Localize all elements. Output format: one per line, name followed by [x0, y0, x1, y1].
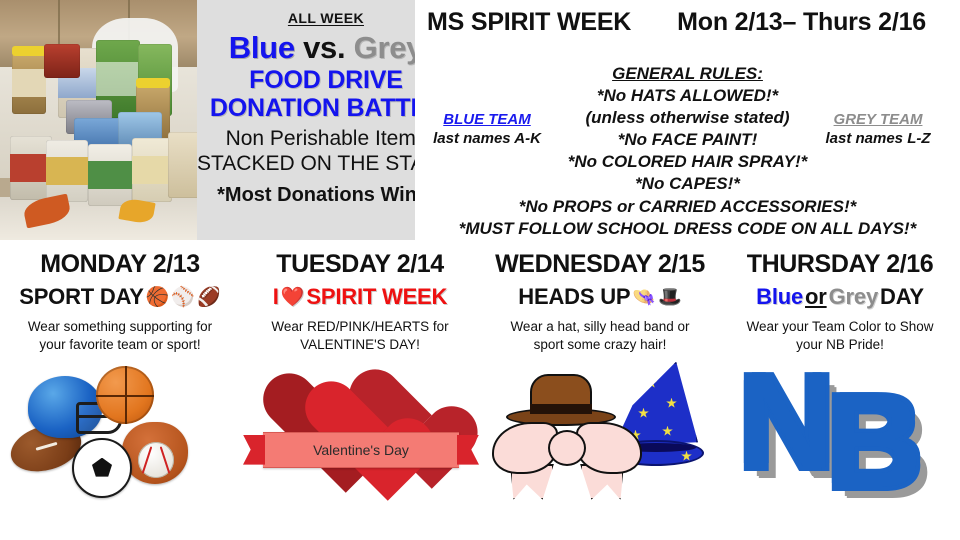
spirit-week-heading: MS SPIRIT WEEK — [427, 8, 631, 37]
rule-item: *No PROPS or CARRIED ACCESSORIES!* — [415, 196, 960, 218]
spirit-week-dates: Mon 2/13– Thurs 2/16 — [677, 8, 926, 37]
photo-can — [168, 132, 197, 198]
thursday-or-word: or — [805, 284, 827, 310]
baseball-glove-illustration — [122, 422, 188, 484]
food-drive-line-1: FOOD DRIVE — [249, 66, 403, 94]
blue-word: Blue — [229, 30, 295, 65]
monday-title: MONDAY 2/13 — [0, 250, 240, 279]
baseball-illustration — [138, 442, 174, 478]
photo-can — [44, 44, 80, 78]
spirit-week-poster: ALL WEEK Blue vs. Grey FOOD DRIVE DONATI… — [0, 0, 960, 540]
fedora-illustration — [506, 368, 616, 426]
tuesday-theme-post: SPIRIT WEEK — [306, 284, 447, 310]
star-icon — [662, 426, 673, 437]
day-columns: MONDAY 2/13 SPORT DAY 🏀 ⚾ 🏈 Wear somethi… — [0, 242, 960, 540]
rules-heading: MS SPIRIT WEEK Mon 2/13– Thurs 2/16 — [415, 0, 960, 37]
wednesday-description: Wear a hat, silly head band or sport som… — [498, 318, 703, 354]
monday-theme: SPORT DAY 🏀 ⚾ 🏈 — [0, 284, 240, 310]
star-icon — [666, 398, 677, 409]
photo-jar — [12, 52, 46, 114]
monday-theme-label: SPORT DAY — [19, 284, 144, 310]
day-column-tuesday: TUESDAY 2/14 I ❤️ SPIRIT WEEK Wear RED/P… — [240, 242, 480, 540]
top-hat-icon: 🎩 — [658, 285, 682, 309]
spirit-week-rules-panel: MS SPIRIT WEEK Mon 2/13– Thurs 2/16 BLUE… — [415, 0, 960, 242]
thursday-day-word: DAY — [880, 284, 924, 310]
wednesday-theme: HEADS UP 👒 🎩 — [480, 284, 720, 310]
valentines-art: Valentine's Day — [240, 360, 480, 510]
nb-logo-letter-n: N — [739, 356, 828, 488]
nb-logo: N B — [735, 360, 945, 510]
photo-jar-lid — [12, 46, 46, 56]
food-drive-line-2: DONATION BATTLE — [210, 94, 442, 122]
monday-description: Wear something supporting for your favor… — [18, 318, 223, 354]
vs-word: vs. — [303, 30, 345, 65]
food-drive-panel: ALL WEEK Blue vs. Grey FOOD DRIVE DONATI… — [0, 0, 415, 240]
rule-item: *MUST FOLLOW SCHOOL DRESS CODE ON ALL DA… — [415, 218, 960, 240]
day-column-monday: MONDAY 2/13 SPORT DAY 🏀 ⚾ 🏈 Wear somethi… — [0, 242, 240, 540]
top-section: ALL WEEK Blue vs. Grey FOOD DRIVE DONATI… — [0, 0, 960, 242]
thursday-blue-word: Blue — [756, 284, 803, 310]
rule-item: (unless otherwise stated) — [415, 107, 960, 129]
tuesday-description: Wear RED/PINK/HEARTS for VALENTINE'S DAY… — [258, 318, 463, 354]
tuesday-theme: I ❤️ SPIRIT WEEK — [240, 284, 480, 310]
rule-item: *No HATS ALLOWED!* — [415, 85, 960, 107]
nb-logo-art: N B — [720, 360, 960, 510]
general-rules-list: GENERAL RULES: *No HATS ALLOWED!* (unles… — [415, 63, 960, 240]
rules-body: BLUE TEAM last names A-K GREY TEAM last … — [415, 37, 960, 237]
tuesday-theme-pre: I — [273, 284, 279, 310]
tuesday-title: TUESDAY 2/14 — [240, 250, 480, 279]
thursday-title: THURSDAY 2/16 — [720, 250, 960, 279]
thursday-theme: Blue or Grey DAY — [720, 284, 960, 310]
rule-item: *No CAPES!* — [415, 173, 960, 195]
football-icon: 🏈 — [197, 285, 221, 309]
hats-art — [480, 360, 720, 510]
photo-can — [46, 140, 88, 202]
photo-can — [88, 144, 132, 206]
fedora-band — [530, 404, 592, 414]
all-week-label: ALL WEEK — [288, 10, 364, 26]
banner-tail-left — [243, 435, 265, 465]
womans-hat-icon: 👒 — [632, 285, 656, 309]
thursday-grey-word: Grey — [829, 284, 878, 310]
basketball-illustration — [96, 366, 154, 424]
heart-icon: ❤️ — [281, 285, 305, 309]
football-helmet-illustration — [28, 376, 102, 438]
wednesday-theme-label: HEADS UP — [518, 284, 630, 310]
food-drive-note: *Most Donations Wins! — [217, 184, 435, 207]
rule-item: *No COLORED HAIR SPRAY!* — [415, 151, 960, 173]
photo-can — [132, 138, 172, 202]
baseball-icon: ⚾ — [171, 285, 195, 309]
basketball-icon: 🏀 — [146, 285, 170, 309]
general-rules-title: GENERAL RULES: — [415, 63, 960, 85]
rule-item: *No FACE PAINT! — [415, 129, 960, 151]
blue-vs-grey-title: Blue vs. Grey — [229, 32, 423, 64]
hair-bow-illustration — [492, 420, 642, 500]
food-drive-sub-1: Non Perishable Items — [226, 126, 427, 151]
photo-jar-lid — [136, 78, 170, 88]
banner-tail-right — [457, 435, 479, 465]
day-column-wednesday: WEDNESDAY 2/15 HEADS UP 👒 🎩 Wear a hat, … — [480, 242, 720, 540]
hearts-illustration: Valentine's Day — [265, 366, 455, 486]
star-icon — [646, 378, 657, 389]
nb-logo-letter-b: B — [827, 376, 916, 508]
sports-equipment-art — [0, 360, 240, 510]
banner-label: Valentine's Day — [313, 442, 409, 458]
soccer-ball-pentagon — [92, 458, 112, 477]
star-icon — [638, 408, 649, 419]
wednesday-title: WEDNESDAY 2/15 — [480, 250, 720, 279]
valentines-banner: Valentine's Day — [263, 432, 459, 468]
day-column-thursday: THURSDAY 2/16 Blue or Grey DAY Wear your… — [720, 242, 960, 540]
grey-word: Grey — [354, 30, 423, 65]
bow-knot — [548, 430, 586, 466]
soccer-ball-illustration — [72, 438, 132, 498]
canned-food-photo — [0, 0, 197, 240]
